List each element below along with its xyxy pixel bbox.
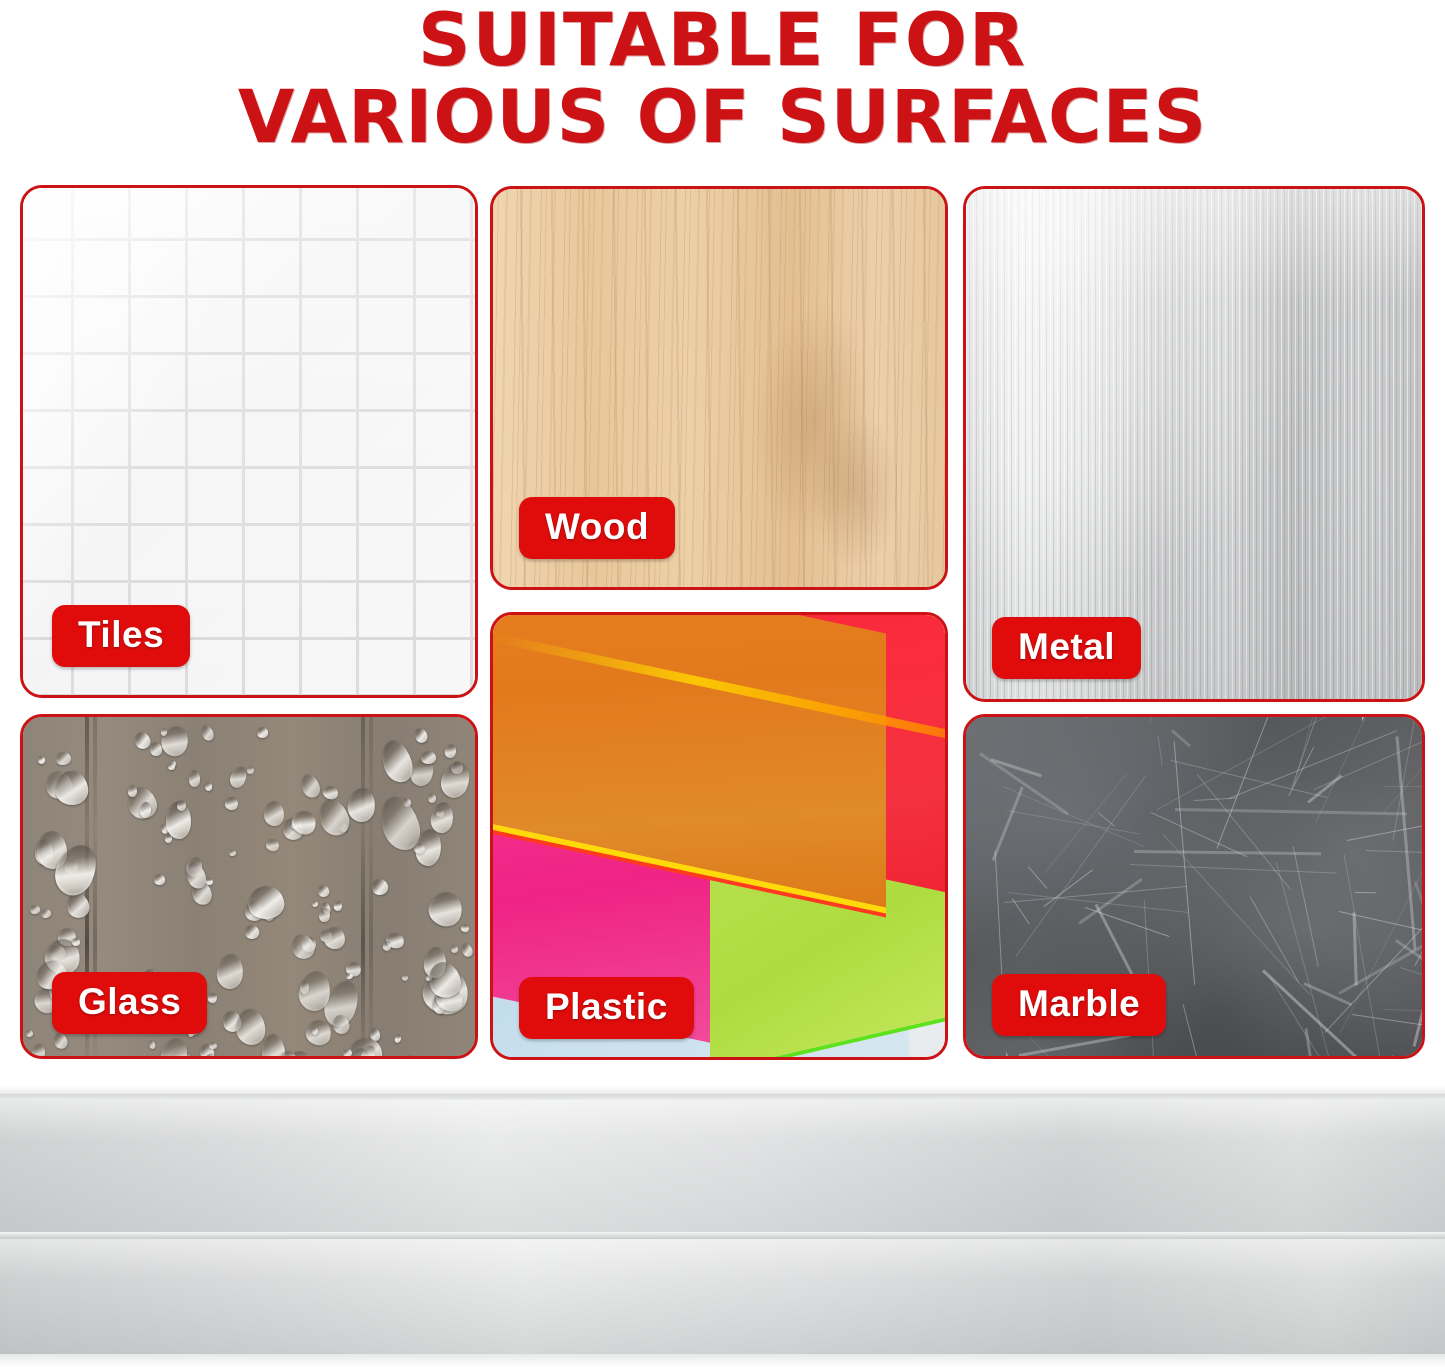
glass-streak: [361, 717, 365, 1056]
water-droplet: [451, 944, 458, 952]
surface-label-metal: Metal: [992, 617, 1141, 679]
water-droplet: [188, 770, 200, 787]
wood-grain-knot-secondary: [810, 411, 900, 571]
water-droplet: [406, 1055, 414, 1059]
water-droplet: [342, 1048, 353, 1058]
surface-card-marble: Marble: [963, 714, 1425, 1059]
surface-label-glass: Glass: [52, 972, 207, 1034]
shelf-band-middle-groove: [0, 1232, 1445, 1239]
bottom-metal-shelf: [0, 1086, 1445, 1367]
water-droplet: [264, 801, 284, 826]
surface-card-glass: Glass: [20, 714, 478, 1059]
shelf-band-lower: [0, 1239, 1445, 1354]
water-droplet: [168, 763, 175, 770]
shelf-band-bottom-fade: [0, 1354, 1445, 1367]
surface-label-plastic: Plastic: [519, 977, 694, 1039]
page-title-line-1: SUITABLE FOR: [418, 2, 1027, 79]
shelf-band-upper: [0, 1100, 1445, 1232]
surface-card-plastic: Plastic: [490, 612, 948, 1060]
surface-card-wood: Wood: [490, 186, 948, 590]
page-title: SUITABLE FOR VARIOUS OF SURFACES: [0, 0, 1445, 165]
water-droplet: [72, 938, 80, 947]
surface-label-marble: Marble: [992, 974, 1166, 1036]
water-droplet: [38, 756, 46, 764]
marble-vein: [1355, 892, 1376, 894]
page-title-line-2: VARIOUS OF SURFACES: [238, 79, 1207, 156]
surface-label-tiles: Tiles: [52, 605, 190, 667]
water-droplet: [208, 1042, 217, 1050]
surface-label-wood: Wood: [519, 497, 675, 559]
surface-card-metal: Metal: [963, 186, 1425, 702]
surface-card-tiles: Tiles: [20, 185, 478, 698]
shelf-band-top-highlight: [0, 1086, 1445, 1094]
